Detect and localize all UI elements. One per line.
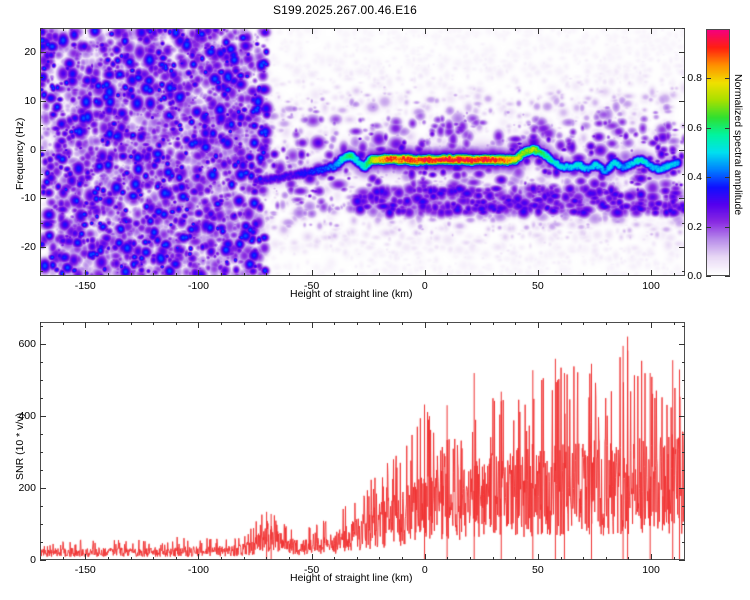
figure-root: S199.2025.267.00.46.E16 -150-100-5005010… (0, 0, 750, 600)
x-minor-tick (131, 557, 132, 560)
colorbar-tick (706, 78, 711, 79)
x-major-tick-top (425, 322, 426, 328)
y-minor-tick (40, 326, 43, 327)
x-minor-tick-top (583, 322, 584, 325)
x-major-tick-top (651, 28, 652, 34)
x-minor-tick (40, 273, 41, 276)
x-tick-label: 50 (532, 280, 544, 292)
x-major-tick (651, 270, 652, 276)
x-minor-tick (447, 557, 448, 560)
x-minor-tick (289, 273, 290, 276)
x-major-tick-top (538, 28, 539, 34)
x-minor-tick (153, 273, 154, 276)
y-minor-tick-right (682, 77, 685, 78)
y-major-tick-right (679, 101, 685, 102)
x-minor-tick (266, 557, 267, 560)
x-minor-tick (561, 273, 562, 276)
x-major-tick-top (425, 28, 426, 34)
x-major-tick (312, 270, 313, 276)
y-minor-tick-right (682, 452, 685, 453)
x-minor-tick-top (674, 322, 675, 325)
x-tick-label: 50 (532, 564, 544, 576)
y-tick-label: -10 (14, 192, 36, 204)
y-minor-tick (40, 434, 43, 435)
x-minor-tick-top (674, 28, 675, 31)
y-minor-tick-right (682, 524, 685, 525)
y-tick-label: 200 (14, 482, 36, 494)
y-major-tick (40, 198, 46, 199)
x-minor-tick-top (221, 322, 222, 325)
x-minor-tick (628, 273, 629, 276)
x-minor-tick-top (402, 322, 403, 325)
spectrogram-panel (40, 28, 685, 276)
x-minor-tick-top (266, 322, 267, 325)
x-minor-tick-top (244, 28, 245, 31)
x-minor-tick-top (63, 322, 64, 325)
x-minor-tick-top (221, 28, 222, 31)
colorbar-tick-label: 0.2 (687, 221, 702, 233)
y-major-tick (40, 488, 46, 489)
y-major-tick (40, 101, 46, 102)
x-major-tick (85, 270, 86, 276)
y-minor-tick-right (682, 28, 685, 29)
colorbar-tick (706, 128, 711, 129)
y-major-tick-right (679, 150, 685, 151)
x-minor-tick-top (606, 322, 607, 325)
x-minor-tick-top (493, 322, 494, 325)
x-minor-tick-top (108, 322, 109, 325)
y-minor-tick-right (682, 362, 685, 363)
x-minor-tick (493, 273, 494, 276)
x-minor-tick (379, 557, 380, 560)
x-minor-tick (63, 273, 64, 276)
x-minor-tick-top (515, 28, 516, 31)
y-major-tick-right (679, 416, 685, 417)
x-minor-tick (470, 273, 471, 276)
x-minor-tick (493, 557, 494, 560)
x-minor-tick (176, 557, 177, 560)
x-minor-tick (583, 273, 584, 276)
y-major-tick-right (679, 488, 685, 489)
x-minor-tick-top (493, 28, 494, 31)
x-minor-tick (108, 273, 109, 276)
colorbar-tick (706, 177, 711, 178)
x-minor-tick-top (379, 322, 380, 325)
y-minor-tick (40, 524, 43, 525)
x-minor-tick-top (63, 28, 64, 31)
x-minor-tick-top (515, 322, 516, 325)
x-major-tick (198, 554, 199, 560)
y-minor-tick-right (682, 380, 685, 381)
x-minor-tick (606, 557, 607, 560)
y-major-tick (40, 344, 46, 345)
y-tick-label: 0 (14, 554, 36, 566)
y-minor-tick-right (682, 271, 685, 272)
y-minor-tick (40, 470, 43, 471)
y-tick-label: 600 (14, 338, 36, 350)
x-major-tick (651, 554, 652, 560)
x-minor-tick-top (153, 322, 154, 325)
x-major-tick-top (538, 322, 539, 328)
x-minor-tick-top (334, 322, 335, 325)
x-minor-tick-top (357, 28, 358, 31)
y-minor-tick (40, 28, 43, 29)
x-minor-tick-top (447, 322, 448, 325)
y-tick-label: -20 (14, 241, 36, 253)
x-minor-tick-top (447, 28, 448, 31)
x-minor-tick-top (40, 322, 41, 325)
y-minor-tick-right (682, 125, 685, 126)
y-tick-label: 20 (14, 46, 36, 58)
x-major-tick (425, 554, 426, 560)
y-major-tick (40, 560, 46, 561)
y-minor-tick (40, 271, 43, 272)
snr-xlabel: Height of straight line (km) (290, 572, 413, 584)
snr-canvas (41, 323, 684, 559)
spectrogram-ylabel: Frequency (Hz) (14, 118, 26, 190)
x-minor-tick-top (334, 28, 335, 31)
x-major-tick-top (312, 322, 313, 328)
y-minor-tick (40, 125, 43, 126)
x-tick-label: 100 (642, 564, 660, 576)
x-minor-tick (244, 557, 245, 560)
x-minor-tick (244, 273, 245, 276)
x-minor-tick (561, 557, 562, 560)
y-minor-tick (40, 506, 43, 507)
x-minor-tick (628, 557, 629, 560)
y-minor-tick (40, 398, 43, 399)
x-major-tick (198, 270, 199, 276)
y-minor-tick-right (682, 470, 685, 471)
x-minor-tick-top (357, 322, 358, 325)
x-major-tick-top (312, 28, 313, 34)
x-minor-tick (221, 557, 222, 560)
y-tick-label: 10 (14, 95, 36, 107)
x-minor-tick (357, 273, 358, 276)
x-minor-tick-top (131, 322, 132, 325)
x-minor-tick (357, 557, 358, 560)
y-minor-tick (40, 77, 43, 78)
y-minor-tick-right (682, 542, 685, 543)
x-minor-tick-top (176, 28, 177, 31)
x-minor-tick (379, 273, 380, 276)
x-minor-tick-top (176, 322, 177, 325)
x-major-tick (425, 270, 426, 276)
x-major-tick-top (198, 322, 199, 328)
y-minor-tick (40, 223, 43, 224)
x-minor-tick (289, 557, 290, 560)
x-minor-tick-top (606, 28, 607, 31)
y-minor-tick-right (682, 506, 685, 507)
x-minor-tick (470, 557, 471, 560)
x-tick-label: -100 (188, 280, 209, 292)
x-minor-tick (402, 273, 403, 276)
y-minor-tick-right (682, 174, 685, 175)
x-minor-tick (176, 273, 177, 276)
x-minor-tick-top (402, 28, 403, 31)
colorbar-tick-label: 0.4 (687, 171, 702, 183)
x-tick-label: 0 (422, 280, 428, 292)
x-minor-tick (583, 557, 584, 560)
colorbar-tick-right (725, 177, 730, 178)
x-minor-tick (674, 557, 675, 560)
x-minor-tick (606, 273, 607, 276)
y-minor-tick (40, 362, 43, 363)
snr-panel (40, 322, 685, 560)
x-minor-tick (334, 557, 335, 560)
y-minor-tick-right (682, 223, 685, 224)
x-minor-tick (108, 557, 109, 560)
x-major-tick-top (85, 28, 86, 34)
x-minor-tick (515, 273, 516, 276)
x-major-tick (538, 270, 539, 276)
x-minor-tick (221, 273, 222, 276)
colorbar-tick-right (725, 227, 730, 228)
x-major-tick (538, 554, 539, 560)
y-minor-tick-right (682, 434, 685, 435)
x-major-tick-top (198, 28, 199, 34)
x-minor-tick-top (108, 28, 109, 31)
y-major-tick (40, 150, 46, 151)
y-major-tick-right (679, 560, 685, 561)
y-minor-tick (40, 380, 43, 381)
y-minor-tick (40, 174, 43, 175)
colorbar-label: Normalized spectral amplitude (732, 74, 744, 215)
y-minor-tick-right (682, 398, 685, 399)
colorbar-tick (706, 227, 711, 228)
colorbar (706, 29, 730, 276)
y-major-tick (40, 416, 46, 417)
x-tick-label: -150 (75, 564, 96, 576)
x-minor-tick-top (289, 28, 290, 31)
x-minor-tick-top (583, 28, 584, 31)
x-tick-label: -150 (75, 280, 96, 292)
y-major-tick-right (679, 198, 685, 199)
y-minor-tick (40, 542, 43, 543)
x-minor-tick-top (561, 28, 562, 31)
y-major-tick (40, 247, 46, 248)
x-minor-tick-top (289, 322, 290, 325)
x-minor-tick-top (266, 28, 267, 31)
x-minor-tick (674, 273, 675, 276)
x-minor-tick-top (153, 28, 154, 31)
y-major-tick (40, 52, 46, 53)
x-tick-label: 100 (642, 280, 660, 292)
x-minor-tick (402, 557, 403, 560)
colorbar-tick-label: 0.0 (687, 270, 702, 282)
y-major-tick-right (679, 52, 685, 53)
x-tick-label: 0 (422, 564, 428, 576)
x-minor-tick-top (244, 322, 245, 325)
x-minor-tick (334, 273, 335, 276)
x-major-tick-top (651, 322, 652, 328)
x-tick-label: -100 (188, 564, 209, 576)
x-major-tick (85, 554, 86, 560)
spectrogram-xlabel: Height of straight line (km) (290, 288, 413, 300)
colorbar-tick-right (725, 276, 730, 277)
x-minor-tick-top (131, 28, 132, 31)
x-minor-tick (447, 273, 448, 276)
page-title: S199.2025.267.00.46.E16 (0, 3, 690, 17)
x-minor-tick-top (470, 322, 471, 325)
y-minor-tick (40, 452, 43, 453)
spectrogram-canvas (41, 29, 684, 275)
x-minor-tick (131, 273, 132, 276)
y-major-tick-right (679, 344, 685, 345)
colorbar-tick (706, 276, 711, 277)
x-minor-tick-top (379, 28, 380, 31)
colorbar-canvas (707, 30, 729, 275)
colorbar-tick-right (725, 78, 730, 79)
y-major-tick-right (679, 247, 685, 248)
colorbar-tick-right (725, 128, 730, 129)
colorbar-tick-label: 0.8 (687, 72, 702, 84)
x-major-tick-top (85, 322, 86, 328)
x-minor-tick (515, 557, 516, 560)
x-minor-tick (266, 273, 267, 276)
x-minor-tick (63, 557, 64, 560)
y-minor-tick-right (682, 326, 685, 327)
snr-ylabel: SNR (10 * v/v) (14, 413, 26, 480)
colorbar-tick-label: 0.6 (687, 122, 702, 134)
x-minor-tick-top (628, 28, 629, 31)
x-minor-tick-top (561, 322, 562, 325)
x-major-tick (312, 554, 313, 560)
x-minor-tick-top (628, 322, 629, 325)
x-minor-tick-top (470, 28, 471, 31)
x-minor-tick (153, 557, 154, 560)
